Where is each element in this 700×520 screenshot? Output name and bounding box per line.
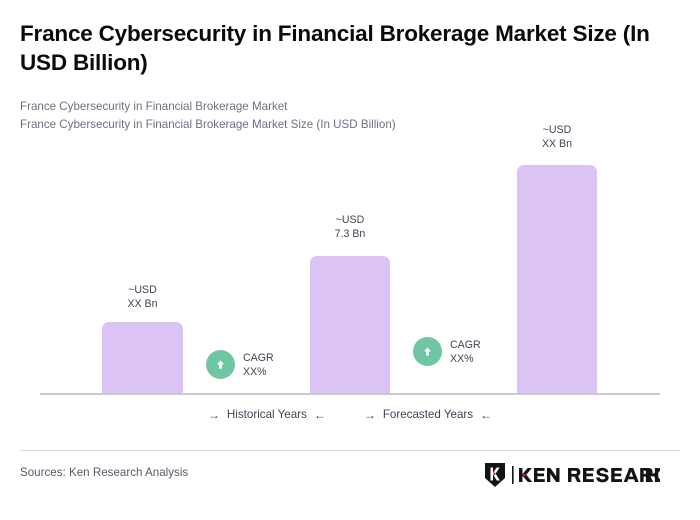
bar-value-label-2-line2: XX Bn [517,137,597,151]
bar-2[interactable] [517,165,597,393]
bar-value-label-1-line1: ~USD [310,213,390,227]
arrow-up-icon [413,337,442,366]
bar-value-label-0: ~USD XX Bn [102,283,183,311]
axis-period-historical: → Historical Years ← [208,408,326,421]
sources-text: Sources: Ken Research Analysis [20,466,188,479]
cagr-badge-1-text: CAGR XX% [450,338,481,366]
arrow-right-icon: → [208,409,220,421]
chart-subtitle: France Cybersecurity in Financial Broker… [20,98,660,134]
cagr-badge-1-line2: XX% [450,352,481,366]
bar-0[interactable] [102,322,183,393]
x-axis-baseline [40,393,660,395]
cagr-badge-0[interactable]: CAGR XX% [206,350,274,379]
arrow-right-icon: → [364,409,376,421]
bar-value-label-0-line1: ~USD [102,283,183,297]
axis-period-forecasted-label: Forecasted Years [383,408,473,421]
bar-chart-plot: ~USD XX Bn ~USD 7.3 Bn ~USD XX Bn CAGR X… [0,0,700,520]
bar-value-label-0-line2: XX Bn [102,297,183,311]
footer-divider [20,450,680,451]
subtitle-line-2: France Cybersecurity in Financial Broker… [20,116,660,134]
bar-value-label-1-line2: 7.3 Bn [310,227,390,241]
ken-research-shield-icon [483,462,507,488]
subtitle-line-1: France Cybersecurity in Financial Broker… [20,98,660,116]
ken-research-wordmark [512,465,660,485]
bar-value-label-1: ~USD 7.3 Bn [310,213,390,241]
axis-period-historical-label: Historical Years [227,408,307,421]
axis-period-legend: → Historical Years ← → Forecasted Years … [40,408,660,421]
cagr-badge-1[interactable]: CAGR XX% [413,337,481,366]
arrow-left-icon: ← [480,409,492,421]
cagr-badge-0-text: CAGR XX% [243,351,274,379]
cagr-badge-1-line1: CAGR [450,338,481,352]
arrow-left-icon: ← [314,409,326,421]
page-title: France Cybersecurity in Financial Broker… [20,20,675,78]
bar-1[interactable] [310,256,390,393]
axis-period-forecasted: → Forecasted Years ← [364,408,492,421]
chart-page: France Cybersecurity in Financial Broker… [0,0,700,520]
ken-research-logo [483,462,660,488]
cagr-badge-0-line2: XX% [243,365,274,379]
arrow-up-icon [206,350,235,379]
cagr-badge-0-line1: CAGR [243,351,274,365]
